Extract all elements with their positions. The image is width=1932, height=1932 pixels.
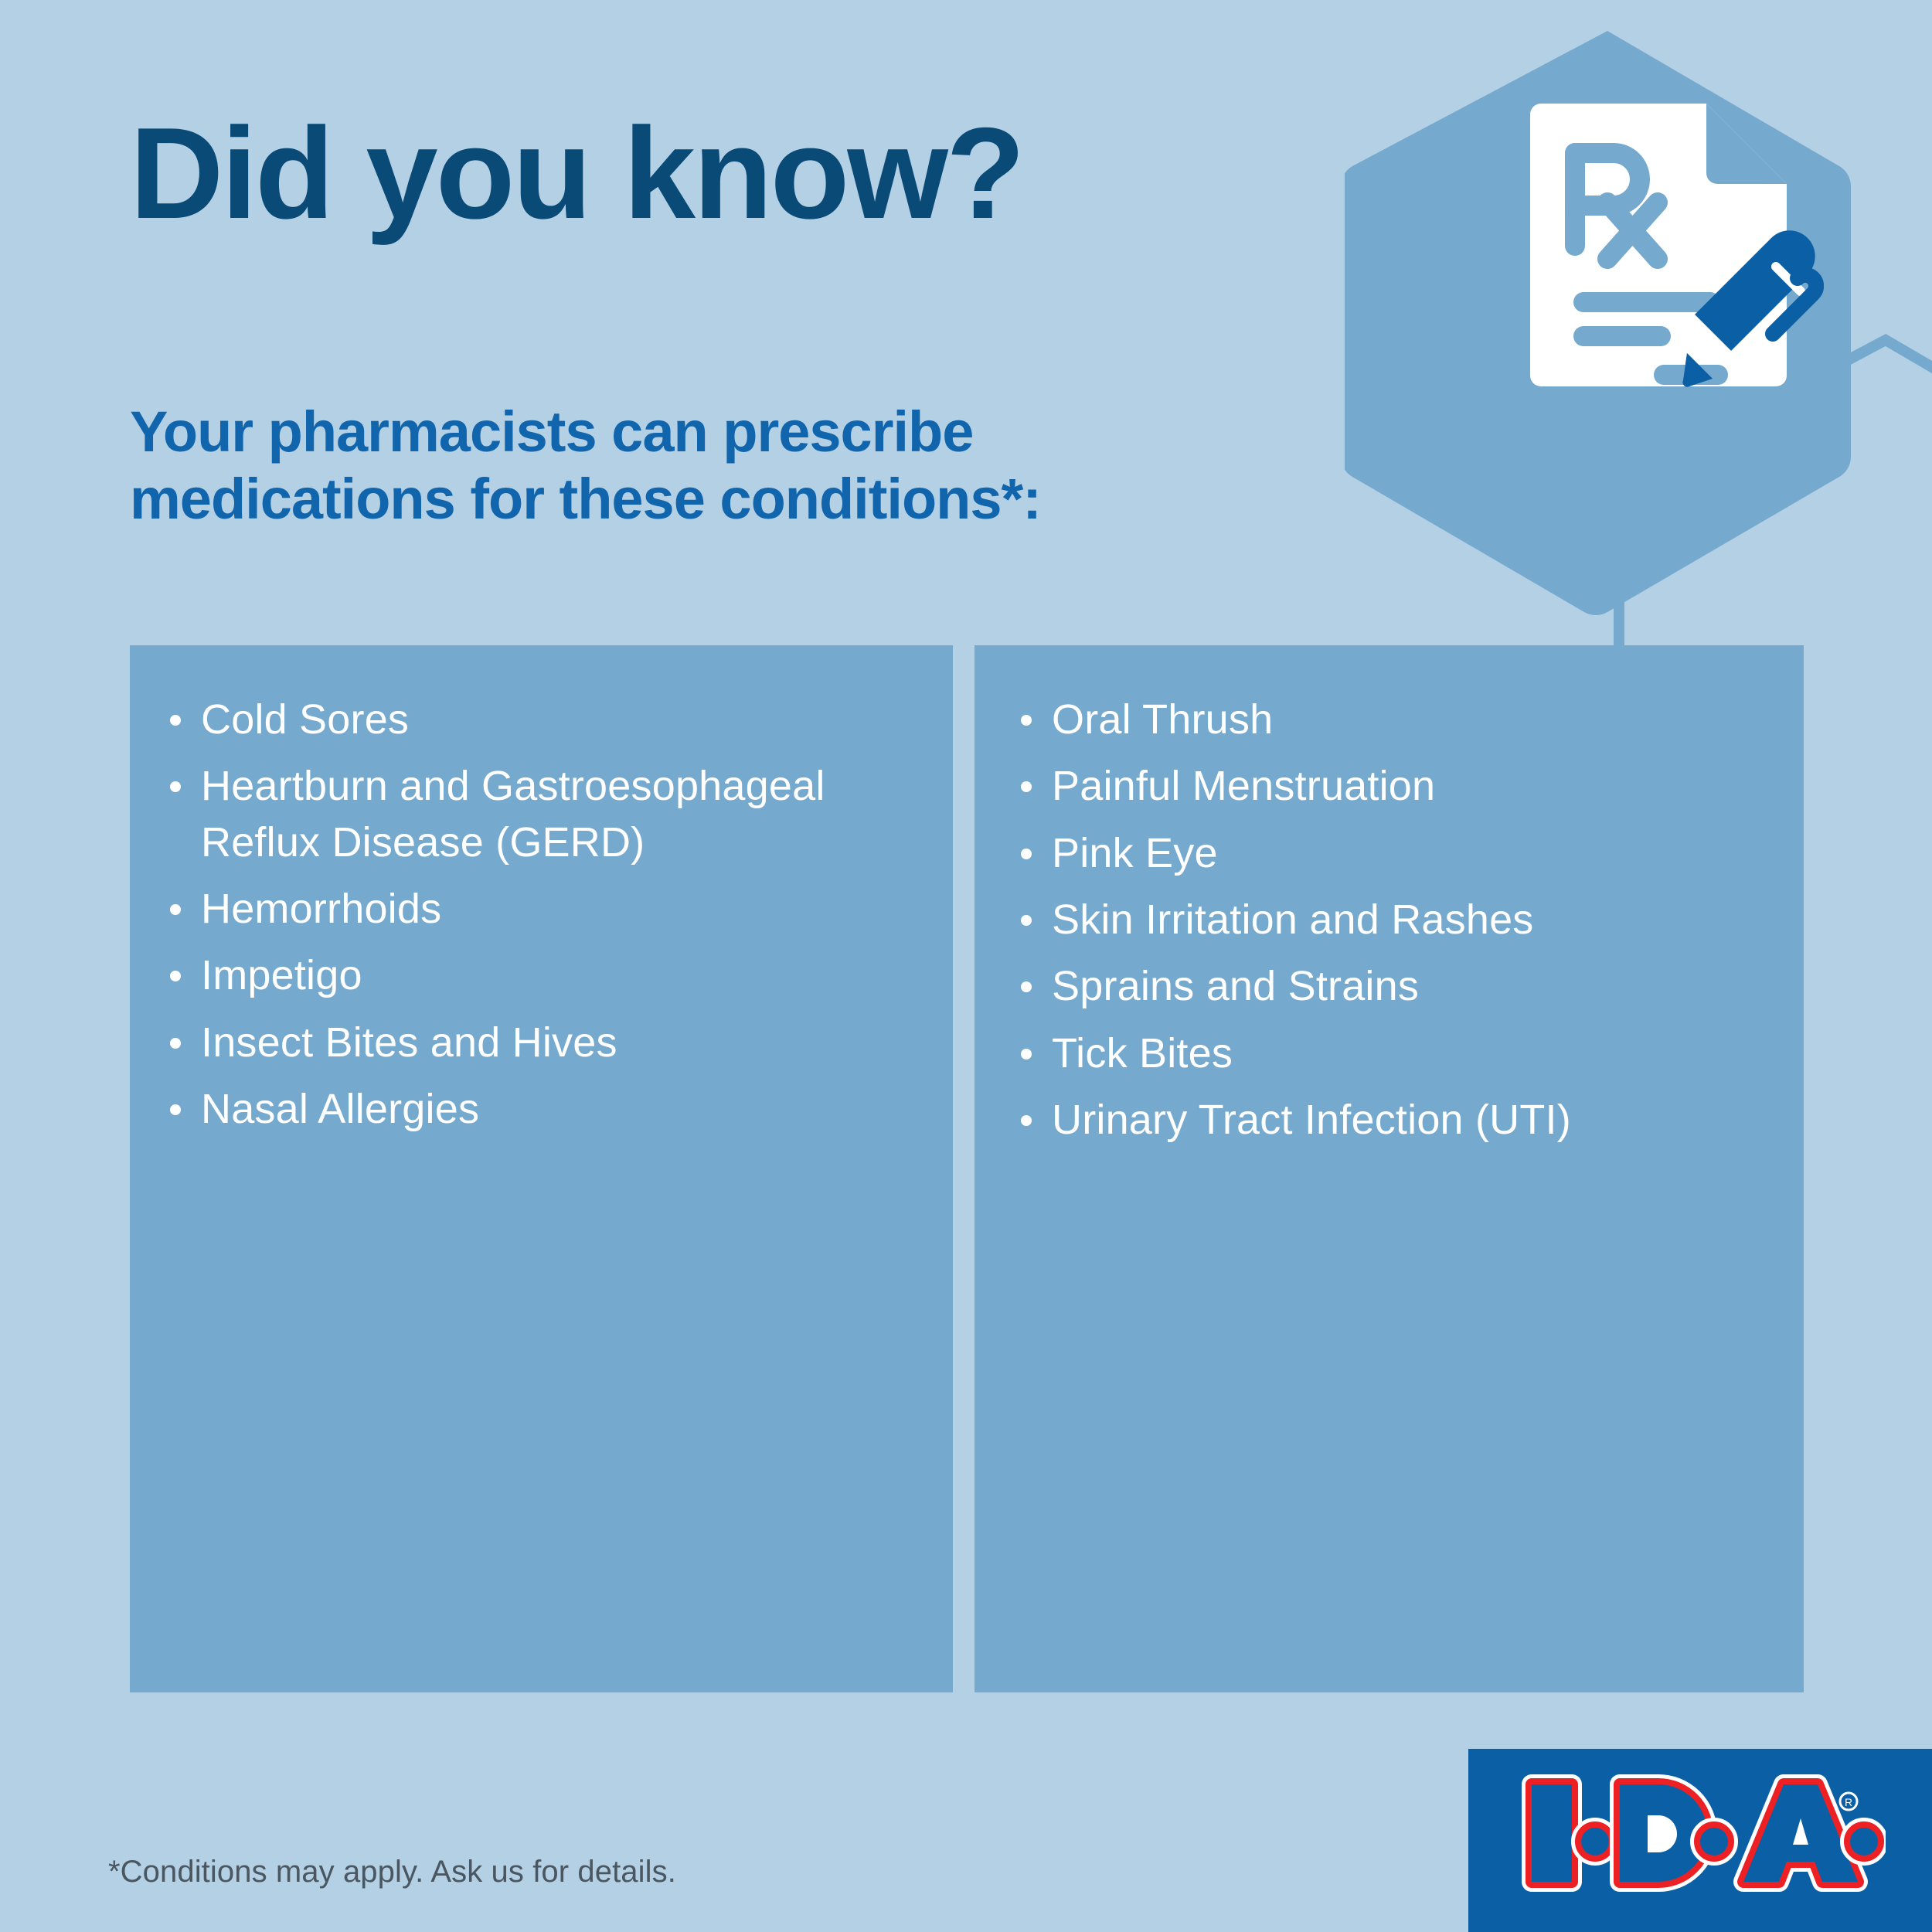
document-line-1 [1573,292,1720,312]
conditions-panel-right: Oral Thrush Painful Menstruation Pink Ey… [975,645,1804,1692]
rx-document-with-pencil-icon [1499,93,1824,417]
list-item: Sprains and Strains [1015,958,1770,1014]
conditions-panels: Cold Sores Heartburn and Gastroesophagea… [130,645,1804,1692]
page-subtitle-line-1: Your pharmacists can prescribe [130,398,1289,465]
list-item: Hemorrhoids [164,881,919,937]
conditions-panel-left: Cold Sores Heartburn and Gastroesophagea… [130,645,953,1692]
page-title: Did you know? [130,108,1023,238]
footnote-disclaimer: *Conditions may apply. Ask us for detail… [108,1855,676,1889]
list-item: Urinary Tract Infection (UTI) [1015,1092,1770,1148]
list-item: Insect Bites and Hives [164,1015,919,1070]
list-item: Impetigo [164,947,919,1003]
document-line-2 [1573,326,1671,346]
page-subtitle: Your pharmacists can prescribe medicatio… [130,398,1289,533]
poster-canvas: Did you know? Your pharmacists can presc… [0,0,1932,1932]
list-item: Oral Thrush [1015,692,1770,747]
list-item: Pink Eye [1015,825,1770,881]
list-item: Tick Bites [1015,1026,1770,1081]
list-item: Skin Irritation and Rashes [1015,892,1770,947]
registered-trademark-icon: R [1840,1793,1857,1810]
conditions-list-right: Oral Thrush Painful Menstruation Pink Ey… [1015,692,1770,1148]
ida-logo-block: R [1468,1749,1932,1932]
list-item: Cold Sores [164,692,919,747]
list-item: Nasal Allergies [164,1081,919,1137]
list-item: Painful Menstruation [1015,758,1770,814]
svg-text:R: R [1845,1796,1852,1808]
page-subtitle-line-2: medications for these conditions*: [130,465,1289,532]
document-folded-corner [1706,104,1787,184]
list-item: Heartburn and Gastroesophageal Reflux Di… [164,758,919,870]
ida-logo-icon: R [1515,1770,1886,1910]
conditions-list-left: Cold Sores Heartburn and Gastroesophagea… [164,692,919,1138]
